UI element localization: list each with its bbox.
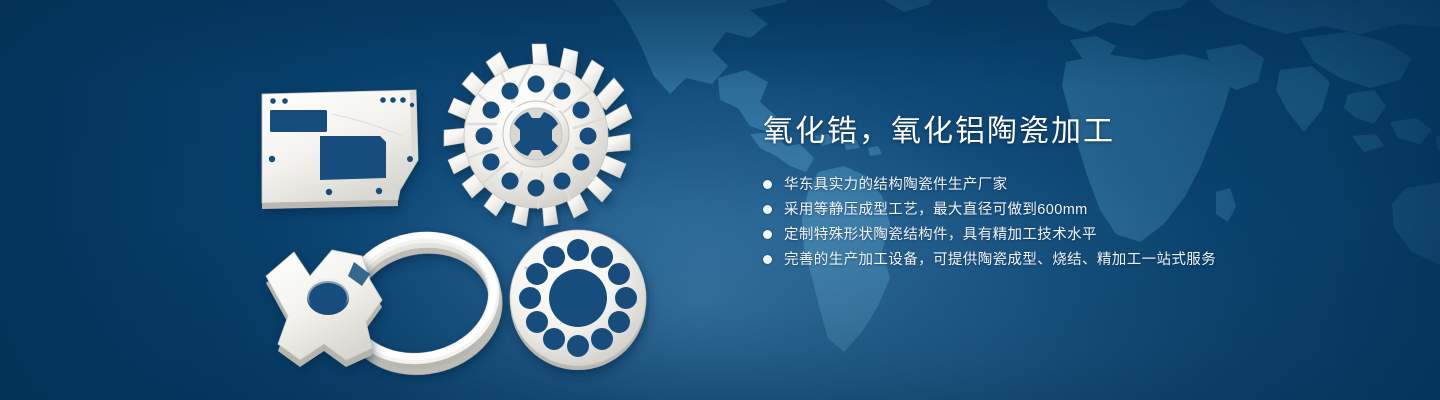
ceramic-perforated-ring	[510, 230, 646, 370]
list-item: 定制特殊形状陶瓷结构件，具有精加工技术水平	[763, 222, 1383, 247]
feature-list: 华东具实力的结构陶瓷件生产厂家 采用等静压成型工艺，最大直径可做到600mm 定…	[763, 172, 1383, 272]
list-item: 完善的生产加工设备，可提供陶瓷成型、烧结、精加工一站式服务	[763, 247, 1383, 272]
list-item: 采用等静压成型工艺，最大直径可做到600mm	[763, 197, 1383, 222]
banner-content: 氧化锆，氧化铝陶瓷加工 华东具实力的结构陶瓷件生产厂家 采用等静压成型工艺，最大…	[763, 112, 1383, 272]
bullet-dot-icon	[763, 205, 772, 214]
ceramic-plate-with-cutouts	[262, 90, 418, 209]
list-item-label: 定制特殊形状陶瓷结构件，具有精加工技术水平	[784, 225, 1097, 245]
ceramic-impeller-disc	[444, 44, 632, 226]
list-item-label: 采用等静压成型工艺，最大直径可做到600mm	[784, 200, 1088, 220]
bullet-dot-icon	[763, 180, 772, 189]
list-item-label: 华东具实力的结构陶瓷件生产厂家	[784, 175, 1008, 195]
hero-banner: 氧化锆，氧化铝陶瓷加工 华东具实力的结构陶瓷件生产厂家 采用等静压成型工艺，最大…	[0, 0, 1440, 400]
product-photo-cluster	[240, 40, 670, 385]
bullet-dot-icon	[763, 230, 772, 239]
page-title: 氧化锆，氧化铝陶瓷加工	[763, 112, 1383, 152]
bullet-dot-icon	[763, 255, 772, 264]
ceramic-cross-shaped-part	[266, 250, 382, 367]
list-item: 华东具实力的结构陶瓷件生产厂家	[763, 172, 1383, 197]
list-item-label: 完善的生产加工设备，可提供陶瓷成型、烧结、精加工一站式服务	[784, 250, 1216, 270]
